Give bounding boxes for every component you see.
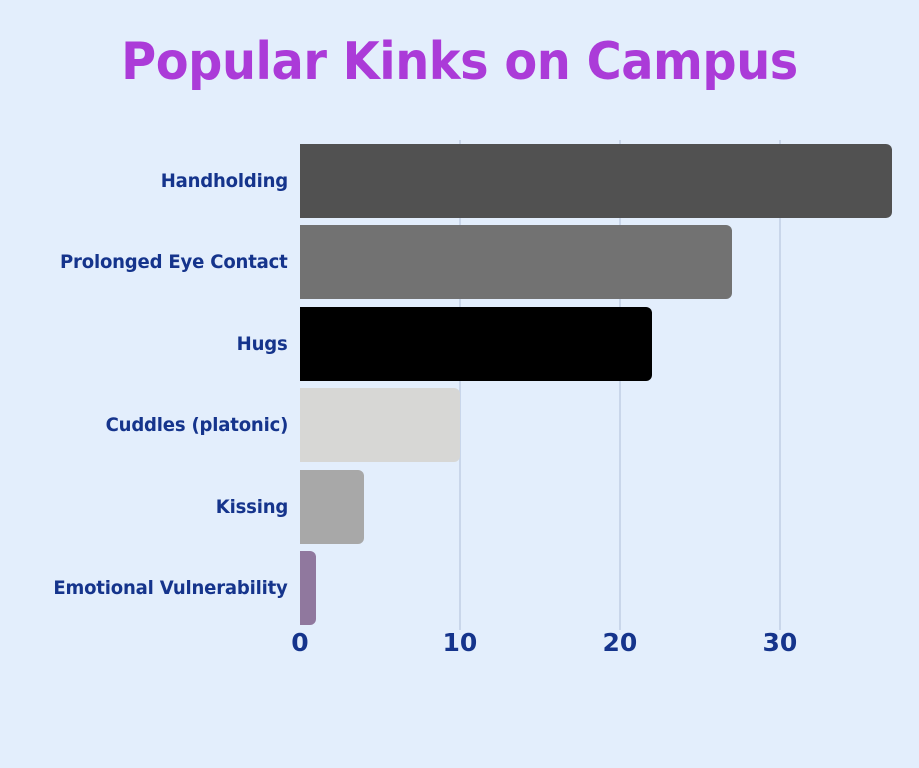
x-axis-tick-20: 20 xyxy=(602,630,637,655)
bar-row xyxy=(300,466,919,548)
x-axis-tick-10: 10 xyxy=(443,630,478,655)
y-axis-label-cuddles-platonic: Cuddles (platonic) xyxy=(105,414,288,436)
bar-row xyxy=(300,140,919,222)
bar-kissing[interactable] xyxy=(300,470,364,544)
bar-prolonged-eye-contact[interactable] xyxy=(300,225,732,299)
x-axis-tick-0: 0 xyxy=(291,630,308,655)
y-axis-label-row: Kissing xyxy=(0,466,288,548)
bar-row xyxy=(300,385,919,467)
y-axis-label-row: Hugs xyxy=(0,303,288,385)
bar-row xyxy=(300,548,919,630)
bar-chart: Popular Kinks on Campus Handholding Prol… xyxy=(0,0,919,768)
y-axis-label-hugs: Hugs xyxy=(237,333,288,355)
chart-title: Popular Kinks on Campus xyxy=(37,36,882,88)
bar-cuddles-platonic[interactable] xyxy=(300,388,460,462)
bar-row xyxy=(300,222,919,304)
x-axis-tick-30: 30 xyxy=(762,630,797,655)
y-axis-label-kissing: Kissing xyxy=(216,496,288,518)
bar-emotional-vulnerability[interactable] xyxy=(300,551,316,625)
bar-handholding[interactable] xyxy=(300,144,892,218)
y-axis-label-row: Prolonged Eye Contact xyxy=(0,222,288,304)
y-axis-label-handholding: Handholding xyxy=(161,170,288,192)
y-axis-label-row: Handholding xyxy=(0,140,288,222)
y-axis-label-row: Cuddles (platonic) xyxy=(0,385,288,467)
y-axis-category-labels: Handholding Prolonged Eye Contact Hugs C… xyxy=(0,140,288,630)
plot-area xyxy=(300,140,919,630)
x-axis-tick-labels: 0102030 xyxy=(0,630,919,676)
bar-row xyxy=(300,303,919,385)
y-axis-label-prolonged-eye-contact: Prolonged Eye Contact xyxy=(60,251,288,273)
y-axis-label-emotional-vulnerability: Emotional Vulnerability xyxy=(54,577,288,599)
bar-hugs[interactable] xyxy=(300,307,652,381)
bars-layer xyxy=(300,140,919,630)
y-axis-label-row: Emotional Vulnerability xyxy=(0,548,288,630)
